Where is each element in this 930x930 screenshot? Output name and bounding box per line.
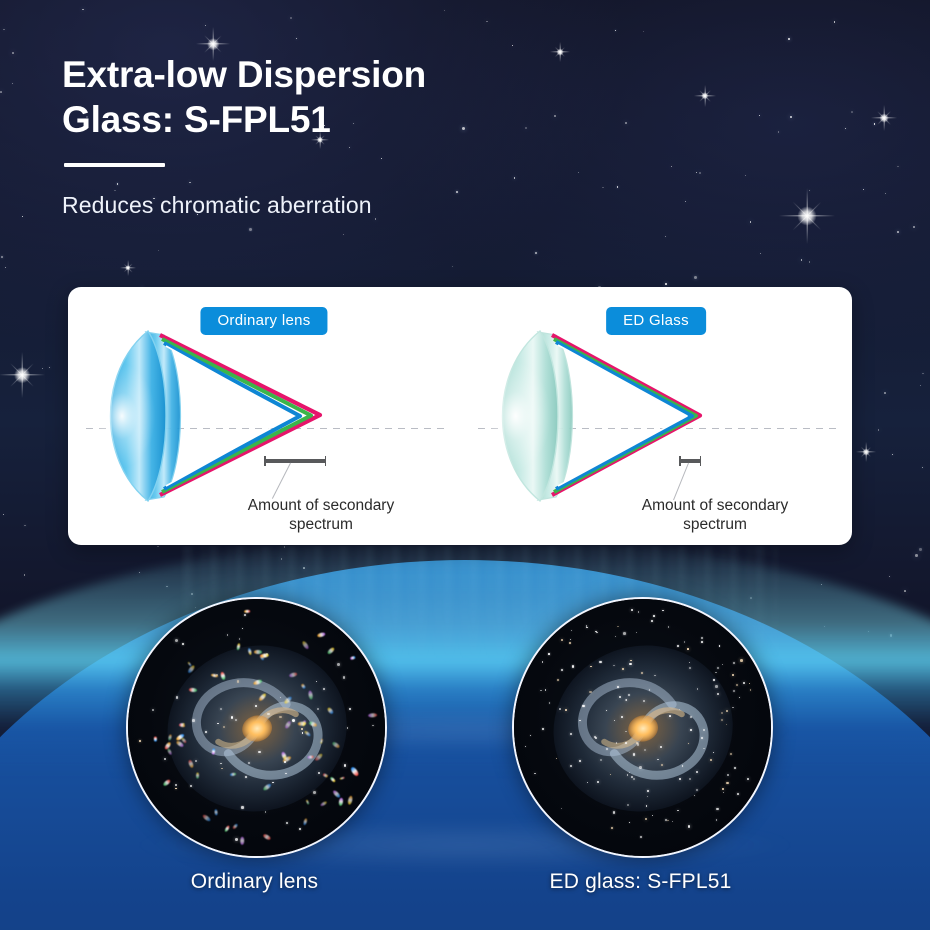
star [919,548,921,550]
star-point [696,789,698,791]
star-point [689,667,691,669]
star [290,17,292,19]
star-point [571,630,572,631]
star-point [337,663,340,666]
star-point [654,675,656,677]
star-with-chromatic-fringe [244,609,250,612]
star [444,10,445,11]
star [117,183,118,184]
title-line-1: Extra-low Dispersion [62,52,582,97]
scope-view-ed [512,597,773,858]
star-point [743,682,745,684]
star [535,252,537,254]
star-with-chromatic-fringe [254,650,262,654]
star [486,21,488,23]
star-point [559,708,561,710]
star [12,52,14,54]
star-point [629,663,632,666]
star-point [638,611,639,612]
star [863,189,864,190]
star-point [629,822,630,823]
star-point [220,708,222,710]
star-point [599,661,601,663]
star [671,166,672,167]
star-point [344,764,346,766]
star [512,45,514,47]
star-glint [694,85,716,107]
star-point [284,761,286,763]
star [24,525,26,527]
star [889,576,890,577]
star-point [175,784,177,786]
star-point [623,632,626,635]
star-point [701,641,703,643]
star [922,467,923,468]
star [874,123,875,124]
star-point [549,702,550,703]
star [809,190,811,192]
star-point [272,782,274,784]
star [284,546,285,547]
star-point [689,778,691,780]
star [868,631,870,633]
star [1,256,3,258]
star [189,182,191,184]
star-point [688,825,690,827]
star [694,276,697,279]
star [602,187,604,189]
star [845,128,846,129]
star [696,172,697,173]
ordinary-lens-panel: Ordinary lens [68,287,460,545]
star-point [561,639,563,641]
star [343,234,344,235]
star [139,572,140,573]
star [514,177,515,178]
star [685,201,686,202]
star [913,226,915,228]
star-point [237,680,239,682]
star-point [625,742,627,744]
star-point [570,639,571,640]
star [5,267,6,268]
star-point [717,693,719,695]
label-ordinary-lens: Ordinary lens [126,870,383,894]
star-point [643,700,645,702]
star-point [545,689,546,690]
star [0,91,2,93]
star-point [589,691,592,694]
star-point [639,766,641,768]
star [249,228,252,231]
star-point [595,737,597,739]
star-point [534,773,536,775]
star [788,38,790,40]
star [114,190,115,191]
star-point [611,827,613,829]
star [915,554,918,557]
star [885,193,887,195]
star [452,266,454,268]
star [22,216,23,217]
star-point [557,679,559,681]
star [82,9,84,11]
star-point [244,614,246,616]
star-point [690,729,692,731]
star-point [525,746,526,747]
star [617,186,619,188]
star-glint [120,260,136,276]
star [878,429,880,431]
star-point [669,715,671,717]
star-point [569,642,571,644]
star-point [726,782,729,785]
star [897,231,899,233]
star [49,367,50,368]
star [922,373,923,374]
star-point [570,765,572,767]
star-point [667,820,669,822]
secondary-spectrum-bracket-right [679,459,701,463]
star-point [682,765,684,767]
star [665,236,666,237]
star [760,253,762,255]
title-line-2: Glass: S-FPL51 [62,97,582,142]
star-point [572,665,574,667]
star [303,567,305,569]
star-point [721,719,723,721]
scope-view-ordinary [126,597,387,858]
star-with-chromatic-fringe [240,837,244,845]
star-with-chromatic-fringe [212,749,215,755]
star-point [636,632,637,633]
star-point [152,709,154,711]
star-point [223,726,225,728]
star [625,122,627,124]
star [809,261,810,262]
star [578,172,579,173]
star-point [139,740,141,742]
star-point [710,759,712,761]
star [281,558,283,560]
star [790,116,792,118]
star-point [579,760,581,762]
star-point [690,716,692,718]
star-point [299,828,302,831]
star-point [736,684,738,686]
star [166,586,168,588]
star-with-chromatic-fringe [189,688,197,693]
star [778,131,779,132]
star-glint [779,188,835,244]
star-point [740,659,743,662]
star [381,158,382,159]
label-ed-glass: ED glass: S-FPL51 [512,870,769,894]
star-point [235,719,237,721]
star [158,250,159,251]
caption-ed-glass: Amount of secondary spectrum [570,496,860,535]
star-point [627,774,629,776]
star-point [182,643,184,645]
star-glint [871,105,897,131]
page-title: Extra-low Dispersion Glass: S-FPL51 [62,52,582,142]
star [834,21,835,22]
star [699,172,702,175]
star [665,283,667,285]
star [349,147,350,148]
star-point [737,793,739,795]
star-point [646,805,647,806]
diagram-card: Ordinary lens [68,287,852,545]
star-point [548,653,550,655]
star [801,259,803,261]
star-point [677,810,678,811]
star [745,175,746,176]
star [884,392,886,394]
star [615,30,616,31]
star-point [628,694,630,696]
star-glint [856,442,876,462]
star-point [653,615,655,617]
title-divider [64,163,165,167]
star-point [719,645,721,647]
star [759,115,760,116]
star-point [349,708,351,710]
star [296,38,297,39]
star [897,166,898,167]
star [24,574,26,576]
star-point [662,610,664,612]
star [157,546,158,547]
star [12,83,13,84]
star-point [565,709,567,711]
star-point [747,778,749,780]
star-point [703,748,705,750]
star [3,29,4,30]
star [205,25,206,26]
star [3,514,4,515]
star [42,368,43,369]
star [191,593,193,595]
star [890,634,893,637]
star-point [687,648,689,650]
star [892,454,894,456]
star [904,590,906,592]
star-point [732,674,734,676]
star [920,385,921,386]
infographic-page: Extra-low Dispersion Glass: S-FPL51 Redu… [0,0,930,930]
star-point [241,806,243,808]
secondary-spectrum-bracket-left [264,459,326,463]
star-point [614,720,615,721]
star-point [641,672,643,674]
star-point [279,716,281,718]
star-point [205,731,207,733]
ed-glass-panel: ED Glass [460,287,852,545]
star [750,221,752,223]
star-glint [0,352,45,398]
star-point [716,808,719,811]
star-point [621,716,623,718]
page-subtitle: Reduces chromatic aberration [62,192,622,219]
star-point [633,753,635,755]
star [851,111,853,113]
star [821,584,822,585]
star-point [715,685,717,687]
star [643,31,644,32]
caption-ordinary-lens: Amount of secondary spectrum [176,496,466,535]
star-point [617,686,619,688]
star-point [343,676,346,679]
star [824,626,825,627]
star-point [235,838,238,841]
star-point [631,609,633,611]
star-point [192,719,195,722]
